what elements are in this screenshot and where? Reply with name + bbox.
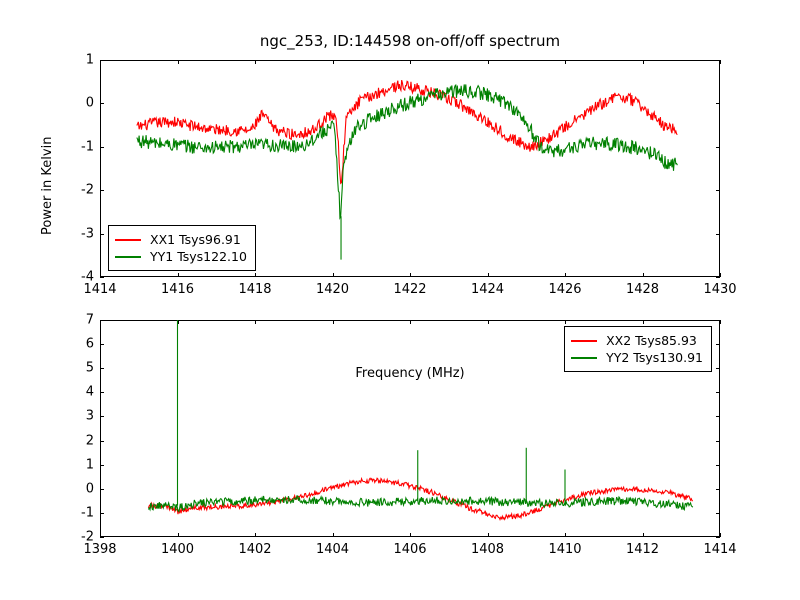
y-axis-tick: [716, 60, 720, 61]
y-axis-tick: [100, 103, 104, 104]
x-axis-tick-label: 1428: [626, 282, 659, 297]
x-axis-tick: [565, 320, 566, 324]
x-axis-tick: [178, 533, 179, 537]
y-axis-tick: [716, 344, 720, 345]
y-axis-tick-label: 0: [86, 481, 94, 496]
x-axis-tick-label: 1416: [161, 282, 194, 297]
x-axis-tick: [333, 533, 334, 537]
x-axis-tick: [178, 320, 179, 324]
x-axis-tick: [720, 60, 721, 64]
legend-item[interactable]: XX1 Tsys96.91: [115, 231, 247, 248]
legend-color-swatch-icon: [115, 239, 141, 241]
x-axis-tick: [643, 320, 644, 324]
x-axis-tick-label: 1400: [161, 542, 194, 557]
x-axis-tick: [255, 533, 256, 537]
y-axis-tick: [716, 320, 720, 321]
y-axis-tick: [100, 234, 104, 235]
x-axis-tick-label: 1422: [393, 282, 426, 297]
x-axis-tick: [488, 533, 489, 537]
legend-color-swatch-icon: [115, 256, 141, 258]
legend-item-label: YY1 Tsys122.10: [150, 249, 247, 264]
y-axis-tick: [716, 489, 720, 490]
x-axis-tick: [720, 273, 721, 277]
legend-item[interactable]: YY2 Tsys130.91: [571, 349, 703, 366]
legend-color-swatch-icon: [571, 357, 597, 359]
y-axis-tick: [100, 147, 104, 148]
x-axis-tick: [720, 320, 721, 324]
x-axis-tick: [333, 60, 334, 64]
y-axis-tick: [716, 392, 720, 393]
y-axis-tick-label: 1: [86, 457, 94, 472]
y-axis-tick-label: 0: [86, 96, 94, 111]
x-axis-tick-label: 1418: [238, 282, 271, 297]
x-axis-tick-label: 1412: [626, 542, 659, 557]
x-axis-tick-label: 1420: [316, 282, 349, 297]
y-axis-tick-label: 1: [86, 53, 94, 68]
x-axis-tick-label: 1430: [703, 282, 736, 297]
y-axis-tick: [716, 368, 720, 369]
y-axis-tick: [100, 60, 104, 61]
x-axis-tick-label: 1408: [471, 542, 504, 557]
x-axis-label: Frequency (MHz): [100, 366, 720, 381]
y-axis-tick: [716, 234, 720, 235]
y-axis-tick: [716, 441, 720, 442]
x-axis-tick: [410, 60, 411, 64]
x-axis-tick: [565, 273, 566, 277]
x-axis-tick: [643, 533, 644, 537]
y-axis-tick: [100, 416, 104, 417]
y-axis-tick-label: 3: [86, 409, 94, 424]
x-axis-tick: [565, 533, 566, 537]
x-axis-tick: [333, 320, 334, 324]
legend-item[interactable]: XX2 Tsys85.93: [571, 332, 703, 349]
x-axis-tick-label: 1406: [393, 542, 426, 557]
series-line: [137, 80, 678, 183]
legend-item-label: XX2 Tsys85.93: [606, 333, 697, 348]
y-axis-tick: [716, 537, 720, 538]
x-axis-tick: [410, 533, 411, 537]
x-axis-tick-label: 1410: [548, 542, 581, 557]
y-axis-tick: [100, 277, 104, 278]
page-title: ngc_253, ID:144598 on-off/off spectrum: [100, 32, 720, 50]
x-axis-tick: [255, 60, 256, 64]
x-axis-tick: [565, 60, 566, 64]
y-axis-tick-label: -4: [81, 270, 94, 285]
y-axis-tick: [100, 320, 104, 321]
y-axis-tick: [100, 489, 104, 490]
y-axis-tick-label: -2: [81, 183, 94, 198]
y-axis-tick-label: 7: [86, 313, 94, 328]
legend-item[interactable]: YY1 Tsys122.10: [115, 248, 247, 265]
series-line: [148, 496, 692, 512]
y-axis-tick-label: -1: [81, 139, 94, 154]
x-axis-tick: [178, 273, 179, 277]
y-axis-tick: [716, 416, 720, 417]
y-axis-tick: [716, 465, 720, 466]
x-axis-tick: [488, 273, 489, 277]
x-axis-tick: [410, 273, 411, 277]
y-axis-tick: [716, 277, 720, 278]
y-axis-tick: [100, 344, 104, 345]
x-axis-tick: [255, 320, 256, 324]
bottom-spectrum-panel: XX2 Tsys85.93YY2 Tsys130.91 Frequency (M…: [100, 320, 720, 537]
x-axis-tick: [255, 273, 256, 277]
x-axis-tick: [643, 273, 644, 277]
y-axis-tick: [100, 465, 104, 466]
y-axis-tick-label: -1: [81, 505, 94, 520]
y-axis-tick: [716, 513, 720, 514]
x-axis-tick: [488, 320, 489, 324]
y-axis-tick: [100, 537, 104, 538]
x-axis-tick: [333, 273, 334, 277]
y-axis-tick: [100, 190, 104, 191]
y-axis-tick: [100, 392, 104, 393]
top-panel-y-axis-label: Power in Kelvin: [40, 137, 55, 235]
x-axis-tick: [643, 60, 644, 64]
x-axis-tick: [178, 60, 179, 64]
legend-color-swatch-icon: [571, 340, 597, 342]
y-axis-tick-label: -2: [81, 530, 94, 545]
x-axis-tick: [720, 533, 721, 537]
x-axis-tick: [410, 320, 411, 324]
y-axis-tick: [716, 190, 720, 191]
y-axis-tick: [100, 441, 104, 442]
top-spectrum-panel: ngc_253, ID:144598 on-off/off spectrum P…: [100, 60, 720, 277]
x-axis-tick-label: 1424: [471, 282, 504, 297]
y-axis-tick-label: 6: [86, 337, 94, 352]
x-axis-tick-label: 1414: [703, 542, 736, 557]
legend-item-label: YY2 Tsys130.91: [606, 350, 703, 365]
x-axis-tick: [488, 60, 489, 64]
top-panel-legend: XX1 Tsys96.91YY1 Tsys122.10: [108, 225, 256, 271]
y-axis-tick-label: 4: [86, 385, 94, 400]
y-axis-tick-label: 2: [86, 433, 94, 448]
x-axis-tick-label: 1402: [238, 542, 271, 557]
x-axis-tick-label: 1426: [548, 282, 581, 297]
y-axis-tick-label: 5: [86, 361, 94, 376]
y-axis-tick-label: -3: [81, 226, 94, 241]
legend-item-label: XX1 Tsys96.91: [150, 232, 241, 247]
y-axis-tick: [100, 368, 104, 369]
y-axis-tick: [716, 103, 720, 104]
y-axis-tick: [100, 513, 104, 514]
y-axis-tick: [716, 147, 720, 148]
x-axis-tick-label: 1404: [316, 542, 349, 557]
